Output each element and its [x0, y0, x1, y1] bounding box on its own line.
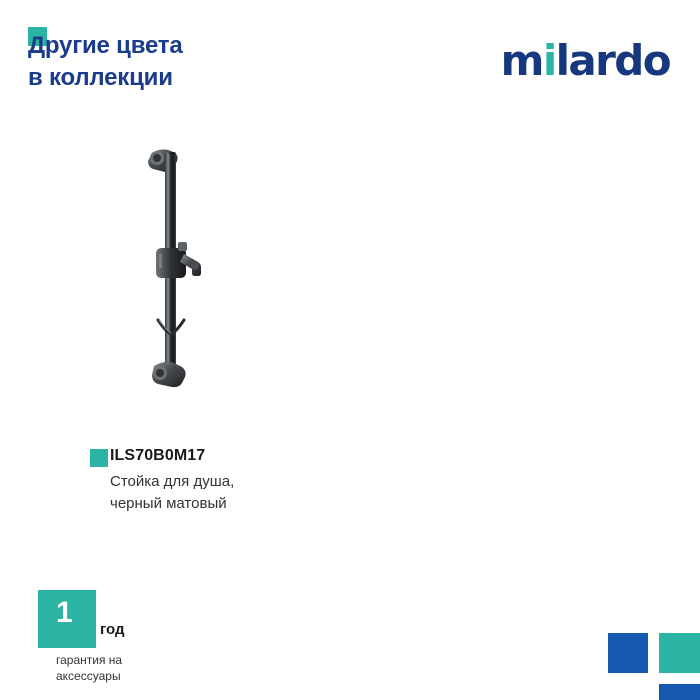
warranty-subtitle: гарантия на аксессуары — [56, 652, 186, 684]
shower-rail-illustration — [140, 130, 250, 400]
caption-accent-square — [90, 449, 108, 467]
milardo-logo: milardo — [501, 36, 670, 85]
logo-text-part-2: lardo — [556, 36, 670, 85]
warranty-unit: год — [100, 621, 125, 638]
decor-square-blue-bottom — [659, 684, 700, 700]
promo-page: Другие цвета в коллекции milardo — [0, 0, 700, 700]
product-description-line-2: черный матовый — [110, 495, 227, 512]
product-sku: ILS70B0M17 — [110, 447, 205, 465]
page-title: Другие цвета в коллекции — [28, 30, 358, 93]
warranty-subtitle-line-1: гарантия на — [56, 653, 122, 667]
logo-text-accent-i: i — [543, 36, 556, 85]
warranty-subtitle-line-2: аксессуары — [56, 669, 121, 683]
product-image — [140, 130, 250, 400]
decor-square-teal — [659, 633, 700, 673]
headline-line-2: в коллекции — [28, 62, 358, 94]
product-description: Стойка для душа, черный матовый — [110, 471, 470, 515]
decor-square-blue — [608, 633, 648, 673]
logo-text-part-1: m — [501, 36, 543, 85]
product-description-line-1: Стойка для душа, — [110, 473, 234, 490]
warranty-number: 1 — [56, 598, 73, 628]
headline-line-1: Другие цвета — [28, 32, 182, 59]
